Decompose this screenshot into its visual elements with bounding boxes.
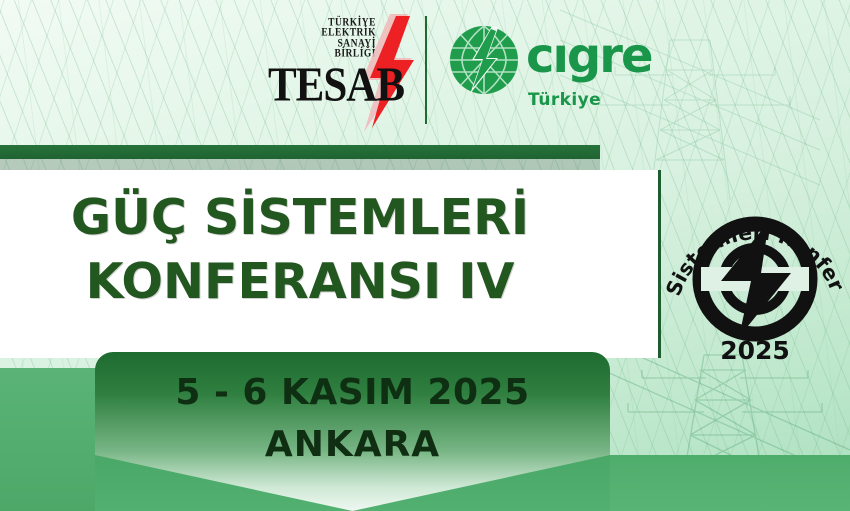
header-rule <box>0 145 600 159</box>
title-line-2: KONFERANSI IV <box>0 250 600 314</box>
cigre-subtitle: Türkiye <box>528 90 601 110</box>
tesab-logo: TÜRKİYE ELEKTRİK SANAYİ BİRLİĞİ TESAB <box>268 12 418 124</box>
cigre-logo: cıgre Türkiye <box>448 22 648 122</box>
event-city: ANKARA <box>95 424 610 465</box>
cigre-wordmark: cıgre <box>526 32 652 80</box>
lower-left-green-block <box>0 368 100 511</box>
conference-poster: TÜRKİYE ELEKTRİK SANAYİ BİRLİĞİ TESAB <box>0 0 850 511</box>
globe-lightning-icon <box>448 24 520 96</box>
tesab-wordmark: TESAB <box>268 61 386 109</box>
poster-header: TÜRKİYE ELEKTRİK SANAYİ BİRLİĞİ TESAB <box>0 0 850 145</box>
header-divider <box>425 16 427 124</box>
header-rule-shadow <box>0 159 600 170</box>
event-dates: 5 - 6 KASIM 2025 <box>95 372 610 413</box>
emblem-year: 2025 <box>660 336 850 365</box>
title-line-1: GÜÇ SİSTEMLERİ <box>71 189 529 246</box>
page-title: GÜÇ SİSTEMLERİ KONFERANSI IV <box>0 186 600 313</box>
